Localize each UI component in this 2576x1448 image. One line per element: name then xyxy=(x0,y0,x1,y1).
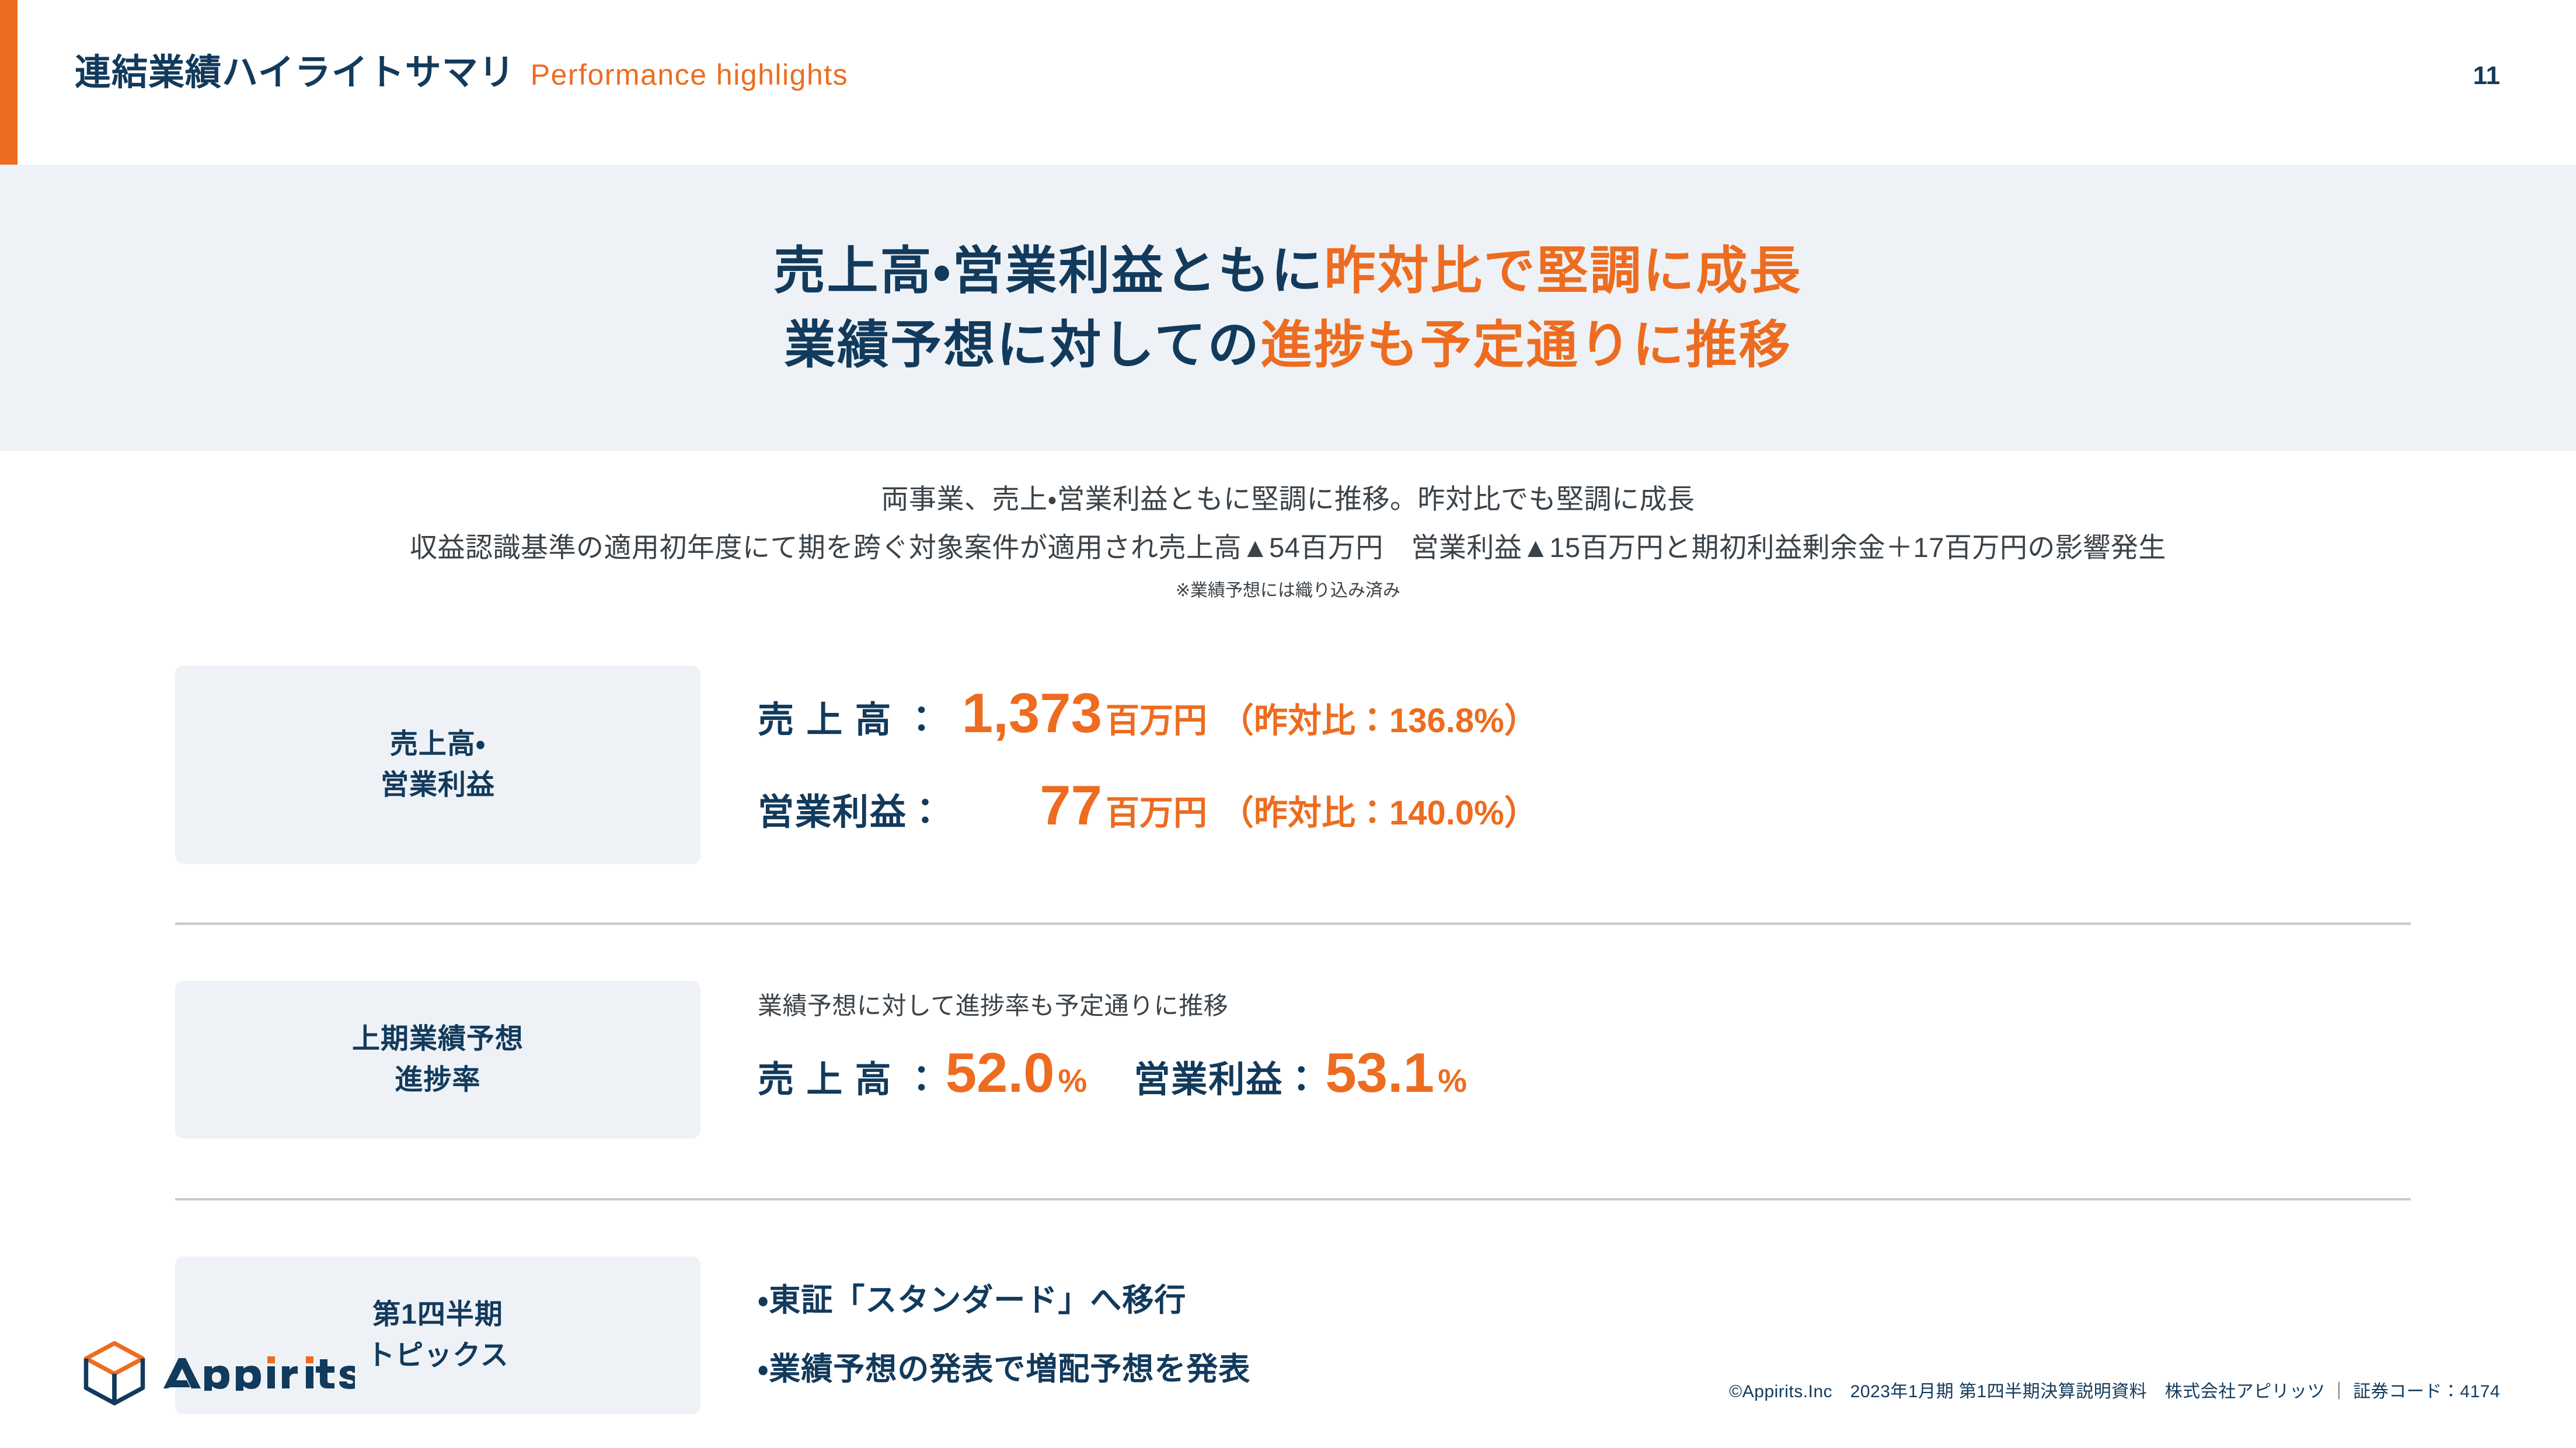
headline-line-2-navy: 業績予想に対しての xyxy=(784,316,1260,374)
metric-operating-profit-value: 77 xyxy=(927,778,1102,834)
metric-operating-profit-unit: 百万円 xyxy=(1106,796,1207,830)
headline-line-1: 売上高・営業利益ともに昨対比で堅調に成長 xyxy=(774,241,1803,300)
appirits-logo xyxy=(82,1340,355,1405)
row-label-revenue-profit: 売上高・ 営業利益 xyxy=(175,666,700,864)
footer-copyright: ©Appirits.Inc 2023年1月期 第1四半期決算説明資料 株式会社ア… xyxy=(1729,1377,2500,1402)
row-divider-2 xyxy=(175,1198,2411,1200)
headline-line-2: 業績予想に対しての進捗も予定通りに推移 xyxy=(784,315,1791,374)
header-accent-bar xyxy=(0,0,18,165)
row-content-topics: ・東証「スタンダード」へ移行 ・業績予想の発表で増配予想を発表 xyxy=(758,1256,2576,1385)
page-title: 連結業績ハイライトサマリ Performance highlights xyxy=(75,55,848,91)
appirits-wordmark-icon xyxy=(162,1355,355,1391)
page-title-ja: 連結業績ハイライトサマリ xyxy=(75,55,515,91)
progress-profit-label: 営業利益： xyxy=(1134,1062,1320,1098)
metric-revenue-yoy: （昨対比：136.8%） xyxy=(1220,704,1538,738)
row-content-progress: 業績予想に対して進捗率も予定通りに推移 売 上 高 ： 52.0 % 営業利益：… xyxy=(758,981,2576,1101)
metric-revenue-value: 1,373 xyxy=(927,685,1102,742)
row-label-topics-line2: トピックス xyxy=(367,1335,509,1376)
progress-profit-value: 53.1 xyxy=(1325,1045,1434,1101)
headline-line-2-orange: 進捗も予定通りに推移 xyxy=(1261,316,1792,374)
lead-line-2: 収益認識基準の適用初年度にて期を跨ぐ対象案件が適用され売上高▲54百万円 営業利… xyxy=(0,527,2576,569)
row-label-revenue-profit-line2: 営業利益 xyxy=(381,765,495,806)
headline-banner: 売上高・営業利益ともに昨対比で堅調に成長 業績予想に対しての進捗も予定通りに推移 xyxy=(0,165,2576,451)
metric-revenue: 売 上 高 ： 1,373 百万円 （昨対比：136.8%） xyxy=(758,685,2576,742)
page-title-en: Performance highlights xyxy=(531,60,848,89)
lead-line-1: 両事業、売上・営業利益ともに堅調に推移。昨対比でも堅調に成長 xyxy=(0,479,2576,520)
cube-logo-icon xyxy=(82,1340,147,1405)
row-label-topics-line1: 第1四半期 xyxy=(372,1294,503,1335)
page-number: 11 xyxy=(2473,61,2500,90)
row-label-progress-line2: 進捗率 xyxy=(395,1060,480,1101)
summary-row-progress: 上期業績予想 進捗率 業績予想に対して進捗率も予定通りに推移 売 上 高 ： 5… xyxy=(0,981,2576,1139)
metric-revenue-label: 売 上 高 ： xyxy=(758,702,927,739)
progress-metrics: 売 上 高 ： 52.0 % 営業利益： 53.1 % xyxy=(758,1045,2576,1101)
row-content-revenue-profit: 売 上 高 ： 1,373 百万円 （昨対比：136.8%） 営業利益： 77 … xyxy=(758,666,2576,834)
metric-operating-profit: 営業利益： 77 百万円 （昨対比：140.0%） xyxy=(758,778,2576,834)
summary-rows: 売上高・ 営業利益 売 上 高 ： 1,373 百万円 （昨対比：136.8%）… xyxy=(0,666,2576,1414)
metric-revenue-unit: 百万円 xyxy=(1106,704,1207,738)
row-label-progress: 上期業績予想 進捗率 xyxy=(175,981,700,1139)
progress-revenue-value: 52.0 xyxy=(946,1045,1055,1101)
metric-operating-profit-yoy: （昨対比：140.0%） xyxy=(1220,796,1538,830)
row-divider-1 xyxy=(175,923,2411,925)
lead-note: ※業績予想には織り込み済み xyxy=(0,577,2576,604)
summary-row-revenue-profit: 売上高・ 営業利益 売 上 高 ： 1,373 百万円 （昨対比：136.8%）… xyxy=(0,666,2576,864)
headline-line-1-navy: 売上高・営業利益ともに xyxy=(774,242,1324,300)
progress-revenue-label: 売 上 高 ： xyxy=(758,1062,941,1098)
progress-revenue-percent-sign: % xyxy=(1058,1064,1087,1097)
lead-text-block: 両事業、売上・営業利益ともに堅調に推移。昨対比でも堅調に成長 収益認識基準の適用… xyxy=(0,479,2576,604)
progress-profit-percent-sign: % xyxy=(1438,1064,1467,1097)
metric-operating-profit-label: 営業利益： xyxy=(758,795,927,831)
topic-bullet: ・東証「スタンダード」へ移行 xyxy=(758,1285,2576,1316)
slide-header: 連結業績ハイライトサマリ Performance highlights 11 xyxy=(0,0,2576,165)
headline-line-1-orange: 昨対比で堅調に成長 xyxy=(1324,242,1802,300)
row-label-progress-line1: 上期業績予想 xyxy=(352,1019,524,1060)
row-label-revenue-profit-line1: 売上高・ xyxy=(390,724,486,765)
progress-note: 業績予想に対して進捗率も予定通りに推移 xyxy=(758,994,2576,1018)
